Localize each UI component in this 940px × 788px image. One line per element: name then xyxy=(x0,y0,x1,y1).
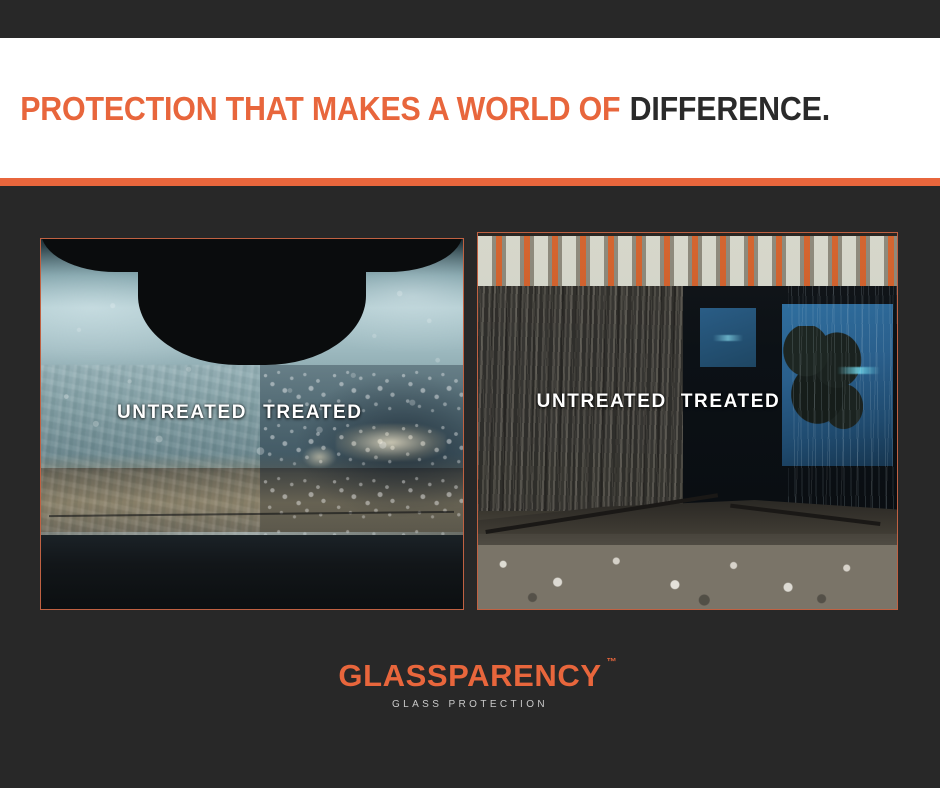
treated-clear-half xyxy=(683,286,897,512)
comparison-photo-windshield-rain: UNTREATED TREATED xyxy=(40,238,464,610)
top-dark-band xyxy=(0,0,940,38)
windshield-glass-area xyxy=(478,286,897,512)
emergency-lightbar xyxy=(478,233,897,289)
page-title: PROTECTION THAT MAKES A WORLD OFDIFFEREN… xyxy=(0,92,830,125)
footer-logo: GLASSPARENCY™ GLASS PROTECTION xyxy=(0,660,940,710)
orange-divider-rule xyxy=(0,178,940,186)
comparison-photo-windshield-mud: UNTREATED TREATED xyxy=(477,232,898,610)
brand-name-text: GLASSPARENCY xyxy=(338,658,601,693)
headline-band: PROTECTION THAT MAKES A WORLD OFDIFFEREN… xyxy=(0,38,940,178)
photo-left-scene: UNTREATED TREATED xyxy=(41,239,463,609)
headline-accent-text: PROTECTION THAT MAKES A WORLD OF xyxy=(20,90,620,127)
mud-streak-texture xyxy=(478,286,683,512)
lightbar-top-edge xyxy=(478,233,897,236)
cyan-light-streak-secondary xyxy=(713,335,743,340)
photo-right-scene: UNTREATED TREATED xyxy=(478,233,897,609)
promo-slide: PROTECTION THAT MAKES A WORLD OFDIFFEREN… xyxy=(0,0,940,788)
gravel-ground xyxy=(478,545,897,609)
water-runnels-layer xyxy=(788,286,897,512)
dashboard-silhouette xyxy=(41,535,463,609)
headline-dark-text: DIFFERENCE. xyxy=(630,90,830,127)
trademark-symbol: ™ xyxy=(607,658,617,668)
brand-wordmark: GLASSPARENCY™ xyxy=(338,660,601,691)
rearview-mirror-icon xyxy=(138,239,366,365)
brand-tagline: GLASS PROTECTION xyxy=(0,700,940,710)
